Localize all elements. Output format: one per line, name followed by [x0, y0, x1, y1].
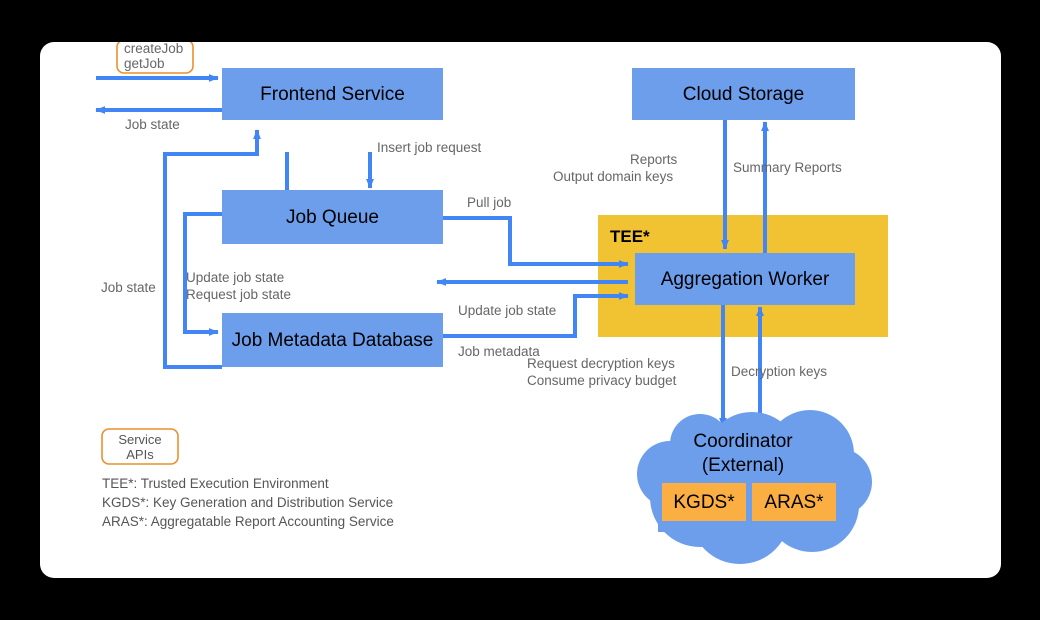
node-job-queue-label: Job Queue [286, 207, 379, 228]
api-callout-line2: getJob [124, 56, 165, 71]
diagram-canvas: TEE* [40, 42, 1001, 578]
node-aras-chip-label: ARAS* [764, 492, 824, 513]
node-coordinator-label: Coordinator [693, 431, 793, 452]
edge-label-reports: Reports [630, 152, 678, 167]
node-aggregation-worker-label: Aggregation Worker [661, 269, 830, 290]
edge-label-decryption-keys: Decryption keys [731, 364, 827, 379]
node-job-metadata-database-label: Job Metadata Database [232, 330, 434, 351]
tee-container-label: TEE* [610, 227, 650, 246]
edge-label-insert-job-request: Insert job request [377, 140, 482, 155]
screenshot-root: TEE* [0, 0, 1040, 620]
edge-label-job-state-out: Job state [125, 117, 180, 132]
edge-label-request-job-state: Request job state [186, 287, 291, 302]
legend-service-apis-line1: Service [118, 432, 161, 447]
edge-label-output-domain-keys: Output domain keys [553, 169, 673, 184]
node-kgds-chip-label: KGDS* [673, 492, 735, 513]
api-callout-line1: createJob [124, 42, 183, 56]
edge-label-request-decryption-keys: Request decryption keys [527, 356, 675, 371]
edge-label-update-job-state-right: Update job state [458, 303, 556, 318]
edge-label-pull-job: Pull job [467, 195, 511, 210]
architecture-diagram-svg: TEE* [40, 42, 1001, 578]
legend-footnote-kgds: KGDS*: Key Generation and Distribution S… [102, 495, 393, 510]
node-frontend-service-label: Frontend Service [260, 84, 405, 105]
edge-label-job-state-left: Job state [101, 280, 156, 295]
legend-footnote-aras: ARAS*: Aggregatable Report Accounting Se… [102, 514, 394, 529]
node-cloud-storage-label: Cloud Storage [683, 84, 804, 105]
node-coordinator-sublabel: (External) [702, 455, 784, 476]
edge-label-summary-reports: Summary Reports [733, 160, 842, 175]
edge-label-update-job-state-left: Update job state [186, 270, 284, 285]
legend-service-apis-line2: APIs [126, 447, 154, 462]
edge-label-consume-privacy-budget: Consume privacy budget [527, 373, 677, 388]
legend-footnote-tee: TEE*: Trusted Execution Environment [102, 476, 329, 491]
